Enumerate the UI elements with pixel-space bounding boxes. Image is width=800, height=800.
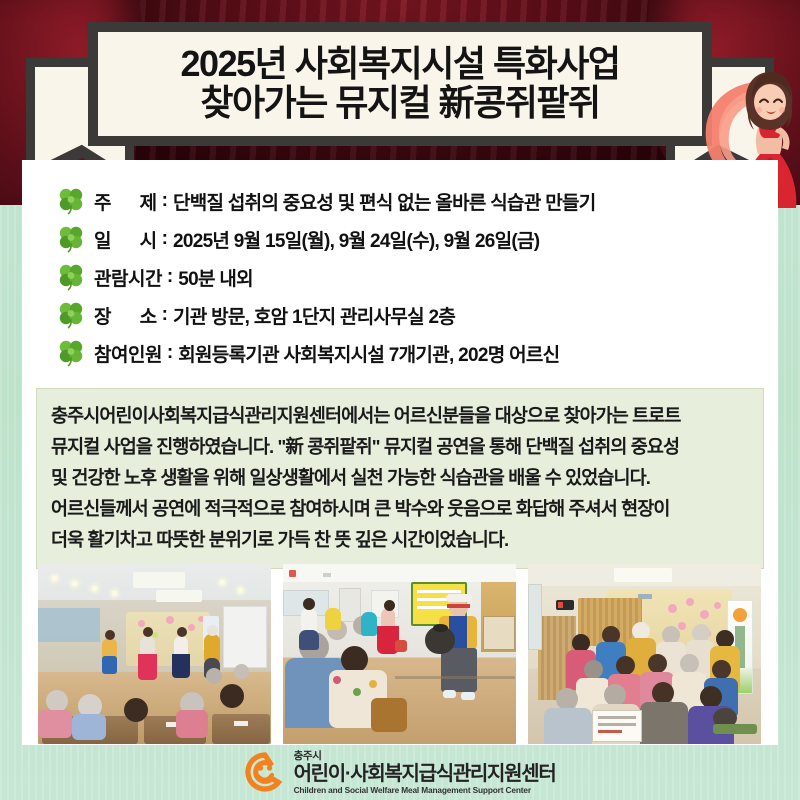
footer-logo: 충주시 어린이·사회복지급식관리지원센터 Children and Social… [0, 745, 800, 800]
info-row: 관람시간 : 50분 내외 [58, 258, 760, 296]
info-row: 일 시 : 2025년 9월 15일(월), 9월 24일(수), 9월 26일… [58, 220, 760, 258]
info-label: 주 제 [94, 188, 157, 215]
info-separator: : [167, 342, 173, 364]
description-box: 충주시어린이사회복지급식관리지원센터에서는 어르신분들을 대상으로 찾아가는 트… [36, 388, 764, 569]
photo-pot-performer [283, 564, 516, 744]
logo-city-name: 충주시 [294, 751, 556, 762]
info-row: 주 제 : 단백질 섭취의 중요성 및 편식 없는 올바른 식습관 만들기 [58, 182, 760, 220]
photo-hanbok-performance [38, 564, 271, 744]
info-value: 50분 내외 [178, 264, 253, 291]
info-value: 회원등록기관 사회복지시설 7개기관, 202명 어르신 [178, 340, 559, 367]
description-line: 및 건강한 노후 생활을 위해 일상생활에서 실천 가능한 식습관을 배울 수 … [51, 462, 749, 493]
info-label: 참여인원 [94, 340, 162, 367]
description-line: 충주시어린이사회복지급식관리지원센터에서는 어르신분들을 대상으로 찾아가는 트… [51, 400, 749, 431]
photo-gallery [38, 564, 762, 744]
info-label: 일 시 [94, 226, 157, 253]
ribbon-panel: 2025년 사회복지시설 특화사업 찾아가는 뮤지컬 新콩쥐팥쥐 [88, 22, 712, 146]
description-line: 뮤지컬 사업을 진행하였습니다. "新 콩쥐팥쥐" 뮤지컬 공연을 통해 단백질… [51, 431, 749, 462]
content-panel: 주 제 : 단백질 섭취의 중요성 및 편식 없는 올바른 식습관 만들기 일 … [22, 160, 778, 745]
four-leaf-clover-icon [58, 225, 84, 253]
logo-center-name-kr: 어린이·사회복지급식관리지원센터 [294, 764, 556, 784]
four-leaf-clover-icon [58, 339, 84, 367]
description-line: 더욱 활기차고 따뜻한 분위기로 가득 찬 뜻 깊은 시간이었습니다. [51, 524, 749, 555]
info-value: 2025년 9월 15일(월), 9월 24일(수), 9월 26일(금) [173, 226, 539, 253]
info-label: 장 소 [94, 302, 157, 329]
info-label: 관람시간 [94, 264, 162, 291]
four-leaf-clover-icon [58, 187, 84, 215]
title-line-1: 2025년 사회복지시설 특화사업 [181, 45, 620, 84]
title-line-2: 찾아가는 뮤지컬 新콩쥐팥쥐 [200, 84, 599, 123]
info-row: 참여인원 : 회원등록기관 사회복지시설 7개기관, 202명 어르신 [58, 334, 760, 372]
smiley-face-logo-icon [245, 752, 285, 792]
title-ribbon: 2025년 사회복지시설 특화사업 찾아가는 뮤지컬 新콩쥐팥쥐 [0, 22, 800, 172]
logo-center-name-en: Children and Social Welfare Meal Managem… [294, 786, 556, 794]
info-value: 단백질 섭취의 중요성 및 편식 없는 올바른 식습관 만들기 [173, 188, 596, 215]
poster-root: 2025년 사회복지시설 특화사업 찾아가는 뮤지컬 新콩쥐팥쥐 [0, 0, 800, 800]
four-leaf-clover-icon [58, 263, 84, 291]
info-list: 주 제 : 단백질 섭취의 중요성 및 편식 없는 올바른 식습관 만들기 일 … [58, 182, 760, 372]
four-leaf-clover-icon [58, 301, 84, 329]
info-separator: : [162, 304, 168, 326]
info-separator: : [162, 190, 168, 212]
info-value: 기관 방문, 호암 1단지 관리사무실 2층 [173, 302, 455, 329]
photo-group-photo [528, 564, 761, 744]
info-separator: : [167, 266, 173, 288]
description-line: 어르신들께서 공연에 적극적으로 참여하시며 큰 박수와 웃음으로 화답해 주셔… [51, 493, 749, 524]
info-row: 장 소 : 기관 방문, 호암 1단지 관리사무실 2층 [58, 296, 760, 334]
info-separator: : [162, 228, 168, 250]
